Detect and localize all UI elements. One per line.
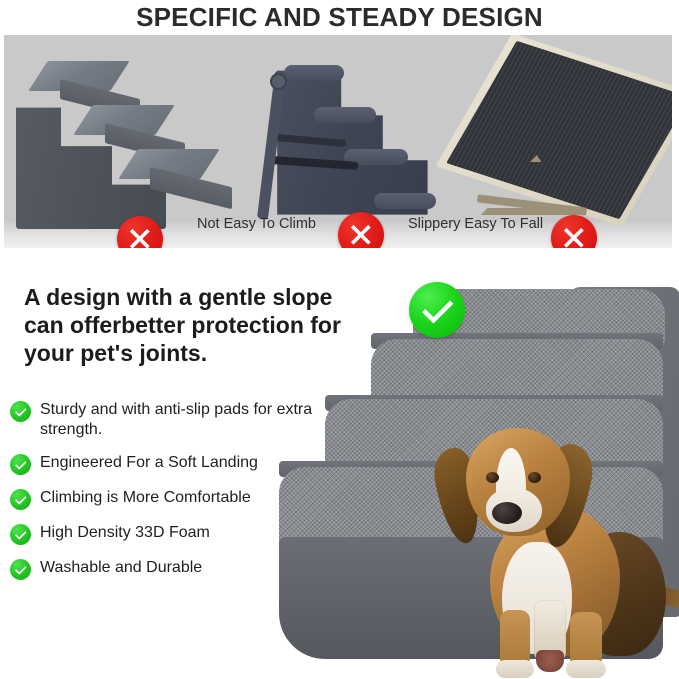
caption-slippery-easy-to-fall: Slippery Easy To Fall	[408, 216, 543, 232]
green-check-icon	[10, 401, 31, 422]
comparison-panel: Not Easy To Climb Slippery Easy To Fall	[4, 35, 672, 248]
green-check-icon	[10, 489, 31, 510]
product-gray-foam-box-stairs	[12, 53, 237, 233]
green-check-badge-icon	[409, 282, 465, 338]
plastic-tread-2	[314, 107, 376, 123]
list-item-label: Engineered For a Soft Landing	[40, 453, 258, 473]
dog-bandage-paw	[536, 650, 564, 672]
caption-not-easy-to-climb: Not Easy To Climb	[197, 216, 316, 232]
list-item-label: High Density 33D Foam	[40, 523, 210, 543]
plastic-tread-1	[284, 65, 344, 81]
hinge-icon	[270, 73, 287, 90]
dog-eye-left	[486, 472, 499, 483]
dog-nose	[492, 502, 522, 524]
dog-paw-left	[496, 660, 534, 678]
infographic-page: SPECIFIC AND STEADY DESIGN	[0, 0, 679, 679]
green-check-icon	[10, 524, 31, 545]
green-check-icon	[10, 454, 31, 475]
dog-eye-right	[528, 472, 541, 483]
product-plastic-folding-stairs	[252, 47, 452, 237]
plastic-tread-4	[374, 193, 436, 209]
dog-paw-right	[566, 660, 606, 678]
green-check-icon	[10, 559, 31, 580]
beagle-dog-image	[424, 414, 674, 679]
page-title: SPECIFIC AND STEADY DESIGN	[0, 0, 679, 35]
product-wooden-carpet-ramp	[459, 51, 672, 241]
list-item-label: Climbing is More Comfortable	[40, 488, 251, 508]
list-item-label: Washable and Durable	[40, 558, 202, 578]
